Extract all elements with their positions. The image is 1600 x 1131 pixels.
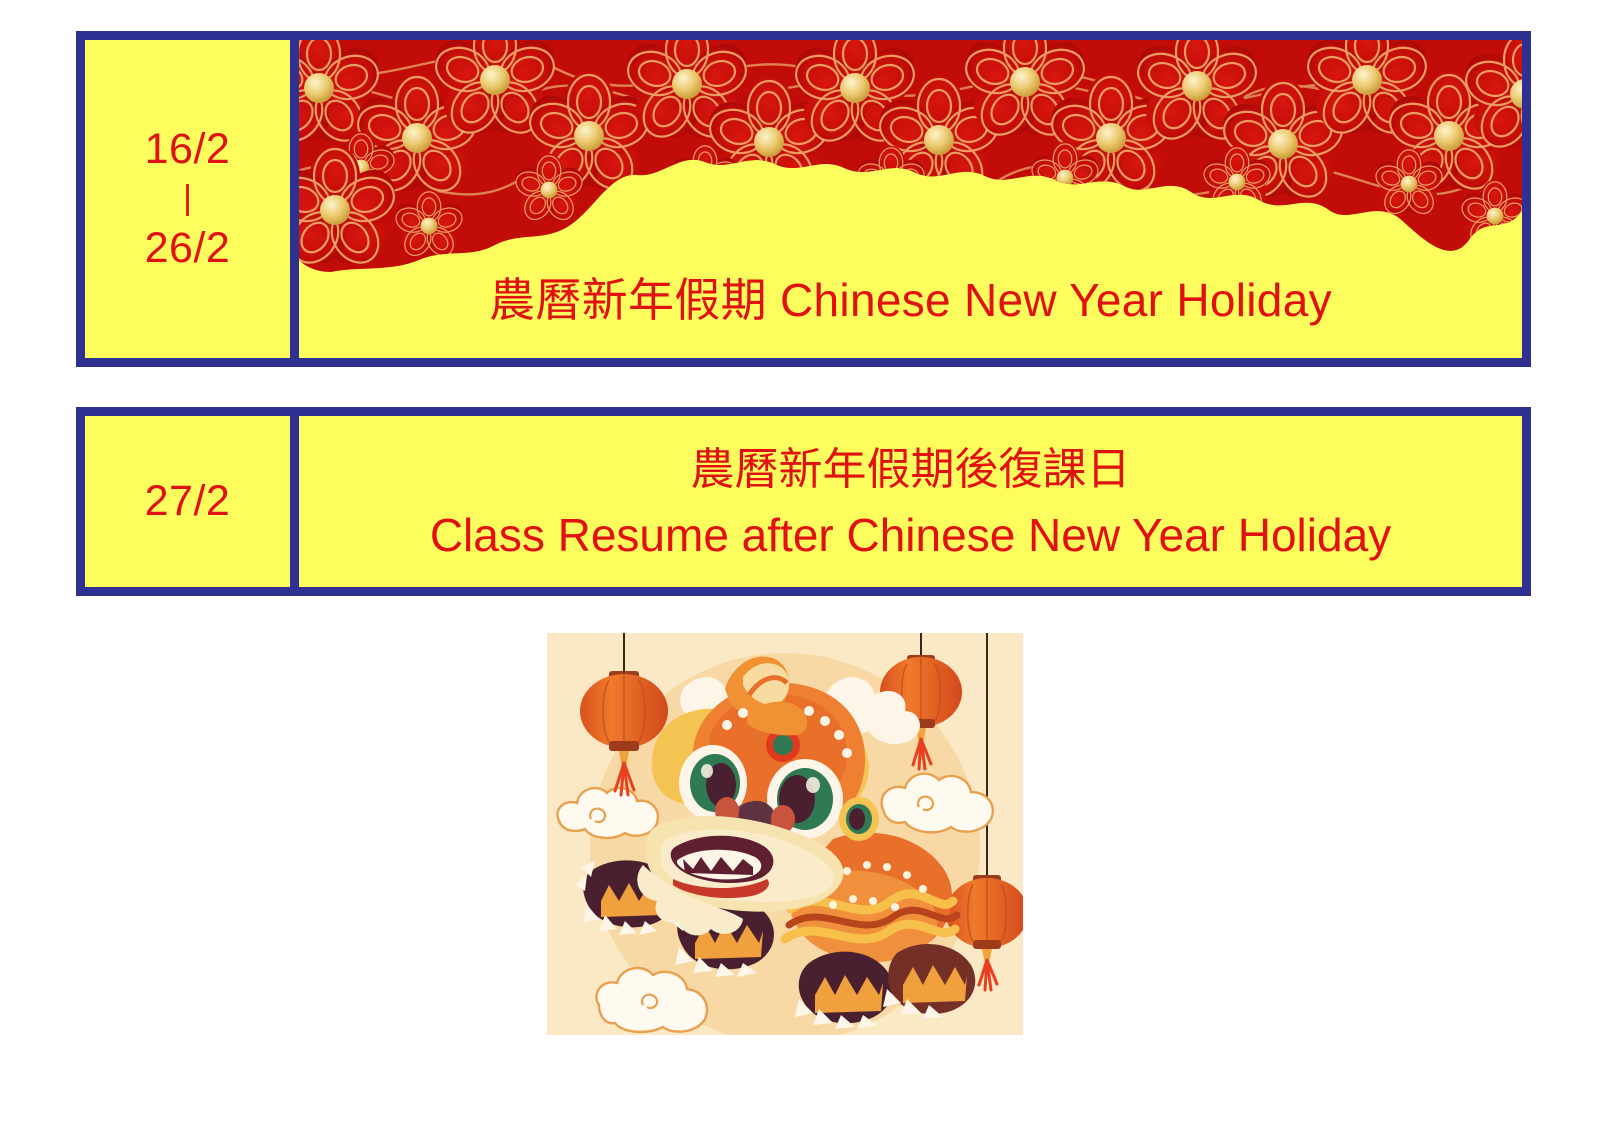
- class-resume-text-english: Class Resume after Chinese New Year Holi…: [430, 510, 1391, 561]
- cell-divider: [290, 416, 299, 587]
- date-end-label: 26/2: [145, 218, 231, 279]
- floral-banner-decoration: [299, 40, 1522, 272]
- lion-dance-svg: [547, 633, 1023, 1035]
- lion-eye-small: [839, 797, 879, 841]
- lion-mouth: [671, 836, 774, 898]
- date-label: 27/2: [145, 471, 231, 532]
- date-cell-class-resume: 27/2: [85, 416, 290, 587]
- holiday-text-english: Chinese New Year Holiday: [780, 274, 1332, 326]
- date-start-label: 16/2: [145, 119, 231, 180]
- notice-row-class-resume: 27/2 農曆新年假期後復課日 Class Resume after Chine…: [76, 407, 1531, 596]
- holiday-text-line: 農曆新年假期 Chinese New Year Holiday: [489, 264, 1332, 330]
- date-cell-holiday: 16/2 | 26/2: [85, 40, 290, 358]
- cell-divider: [290, 40, 299, 358]
- lion-dance-illustration: [547, 633, 1023, 1035]
- date-separator: |: [183, 180, 192, 217]
- content-cell-class-resume: 農曆新年假期後復課日 Class Resume after Chinese Ne…: [299, 416, 1522, 587]
- floral-banner-svg: [299, 40, 1522, 272]
- notice-row-holiday: 16/2 | 26/2: [76, 31, 1531, 367]
- content-cell-holiday: 農曆新年假期 Chinese New Year Holiday: [299, 40, 1522, 358]
- holiday-text-chinese: 農曆新年假期: [489, 273, 767, 327]
- class-resume-text-chinese: 農曆新年假期後復課日: [691, 446, 1131, 494]
